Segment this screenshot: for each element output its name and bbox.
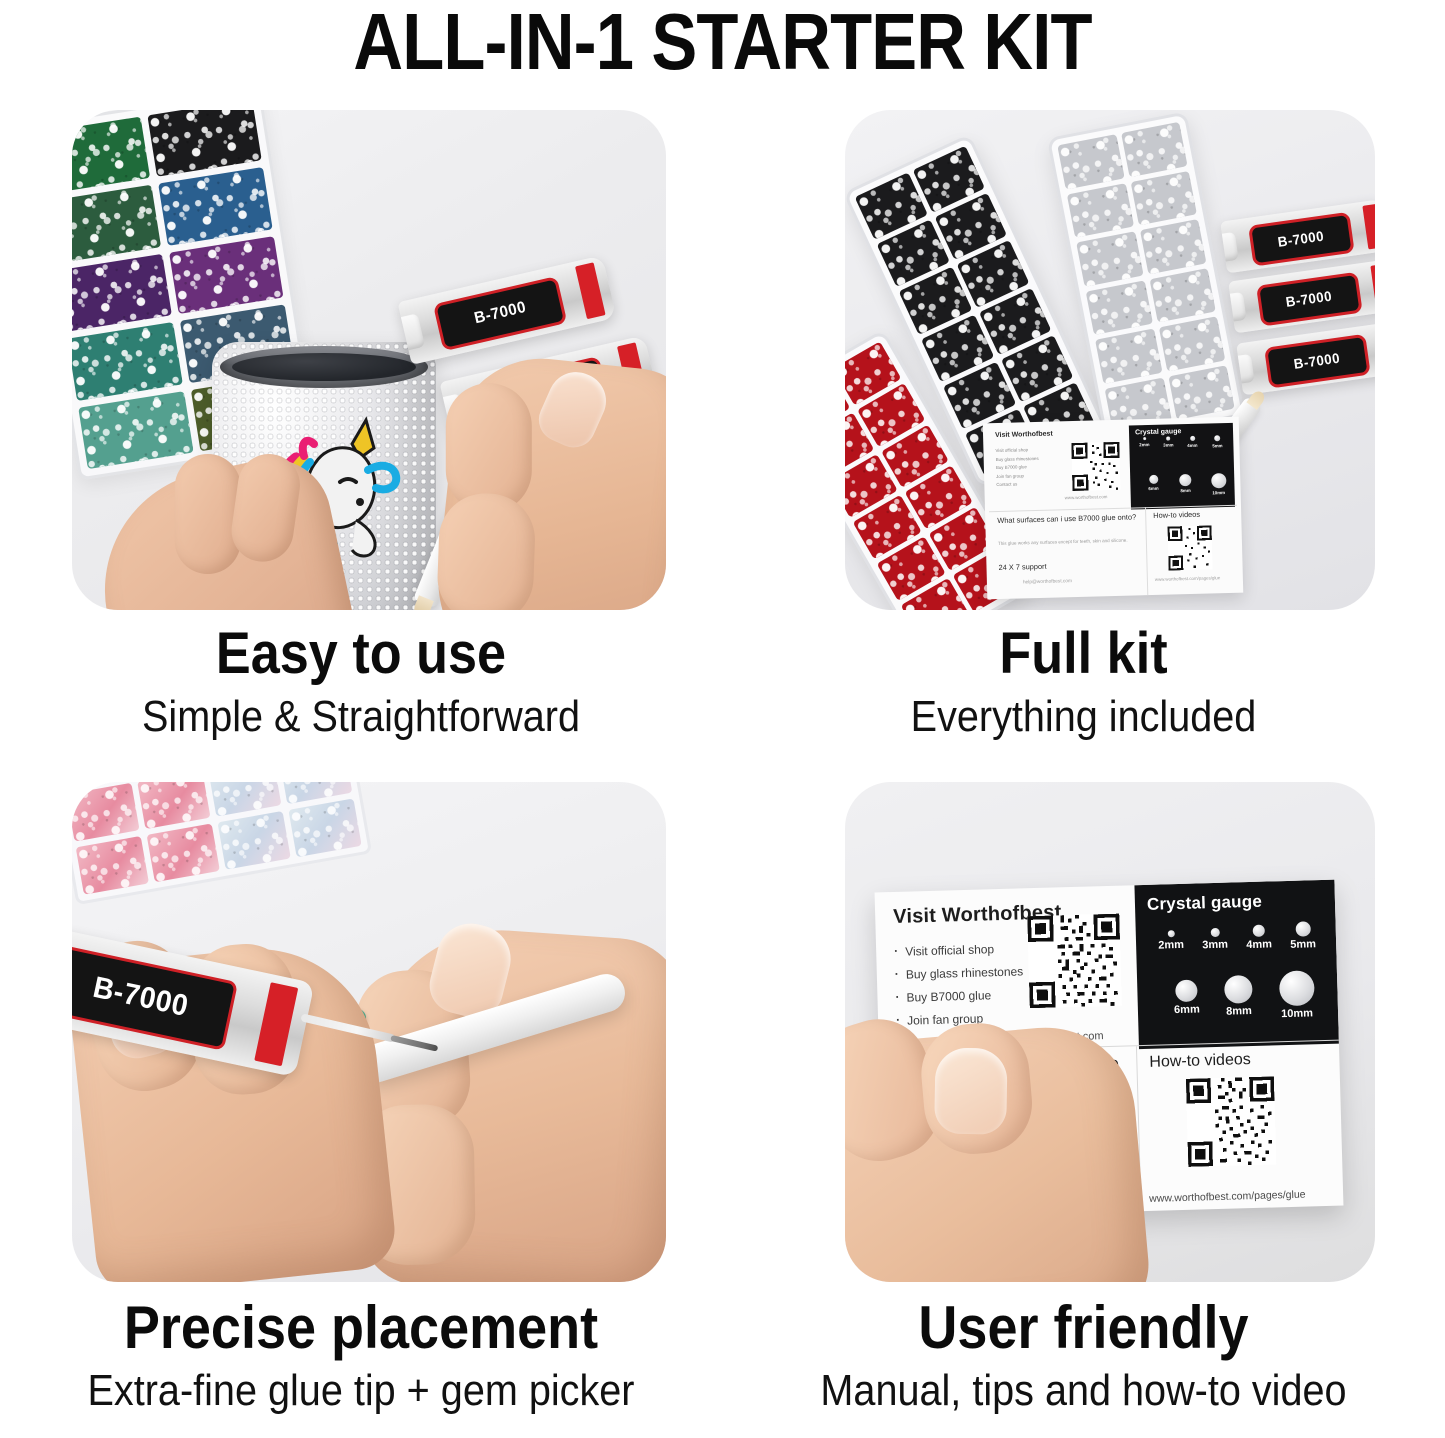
gauge-size-label: 10mm [1272,1007,1322,1020]
finger [175,454,241,574]
glue-tube-label: B-7000 [1248,212,1355,266]
gem-compartment [1086,280,1153,335]
gauge-size-label: 5mm [1282,938,1324,951]
panel-precise-placement: B-7000 [72,782,666,1282]
hand-holding-card [845,1020,1153,1282]
gem-compartment [1158,316,1225,371]
qr-code-icon [1186,1076,1276,1166]
gauge-size-label: 5mm [1205,443,1229,449]
gem-compartment [1139,219,1206,274]
glue-tube: B-7000 [1236,321,1375,396]
glue-tube-nozzle [1236,354,1255,386]
gem-compartment [169,236,284,314]
card-visit-title: Visit Worthofbest [995,431,1053,440]
gauge-size-label: 2mm [1150,939,1192,952]
card-question: What surfaces can i use B7000 glue onto? [997,513,1147,526]
tumbler-rim [220,346,428,388]
glue-brand-text: B-7000 [1285,288,1333,310]
photo-full-kit: B-7000 B-7000 B-7000 [845,110,1375,610]
gem-compartment [1168,365,1235,420]
gem-compartment [72,185,161,263]
gauge-dot [1175,980,1198,1003]
crystal-gauge-mini: Crystal gauge 2mm 3mm 4mm [1129,423,1235,510]
thumbnail [532,363,615,454]
qr-code-icon [1027,914,1122,1009]
gem-compartment [147,823,220,882]
gem-compartment [1130,170,1197,225]
gem-compartment [72,254,171,332]
panel-full-kit: B-7000 B-7000 B-7000 [845,110,1375,610]
card-email: help@worthofbest.com [1023,579,1072,585]
card-visit-section: Visit Worthofbest Visit official shop Bu… [875,885,1137,1052]
gem-compartment [76,836,149,895]
gauge-size-label: 3mm [1194,938,1236,951]
gem-compartment [78,391,193,469]
card-support: 24 X 7 support [998,562,1046,572]
gem-compartment [1057,134,1124,189]
gauge-title: Crystal gauge [1135,428,1181,436]
gauge-size-label: 3mm [1157,442,1179,448]
gem-compartment [208,782,281,817]
glue-brand-text: B-7000 [90,971,191,1024]
crystal-gauge: Crystal gauge 2mm 3mm [1134,880,1339,1050]
gem-compartment [158,167,273,245]
photo-user-friendly: Visit Worthofbest Visit official shop Bu… [845,782,1375,1282]
gem-compartment [288,798,361,857]
card-howto-title: How-to videos [1149,1049,1339,1072]
gem-compartment [1067,183,1134,238]
gem-compartment [72,322,182,400]
thumbnail [934,1047,1007,1134]
card-link-list: Visit official shop Buy glass rhinestone… [995,446,1039,490]
upper-hand [356,922,666,1282]
gem-compartment [137,782,210,829]
instruction-card-mini: Visit Worthofbest Visit official shop Bu… [983,417,1244,600]
caption-user-friendly: User friendly Manual, tips and how-to vi… [722,1296,1445,1415]
glue-tube-red-stripe [575,263,605,320]
finger [436,492,536,610]
caption-subheading: Everything included [758,693,1409,741]
caption-heading: Full kit [758,624,1409,685]
glue-tube-label: B-7000 [433,276,568,352]
panel-user-friendly: Visit Worthofbest Visit official shop Bu… [845,782,1375,1282]
gem-compartment [1076,231,1143,286]
gauge-dot [1224,975,1253,1004]
photo-easy-to-use: B-7000 B-7000 [72,110,666,610]
gem-compartment [1121,122,1188,177]
gauge-size-label: 6mm [1140,486,1166,492]
glue-brand-text: B-7000 [1277,228,1325,250]
caption-subheading: Manual, tips and how-to video [758,1367,1409,1415]
glue-tube-nozzle [1220,232,1239,264]
glue-tube: B-7000 [1220,199,1375,274]
caption-easy-to-use: Easy to use Simple & Straightforward [0,624,722,741]
photo-precise-placement: B-7000 [72,782,666,1282]
card-top-section: Visit Worthofbest Visit official shop Bu… [875,880,1339,1053]
gem-compartment [1149,268,1216,323]
card-howto-url: www.worthofbest.com/pages/glue [1149,1189,1306,1205]
glue-brand-text: B-7000 [1293,350,1341,372]
glue-tube-nozzle [1228,292,1247,324]
glue-tube-body: B-7000 [1220,199,1375,274]
caption-full-kit: Full kit Everything included [722,624,1445,741]
gem-compartment [147,110,262,177]
qr-code-icon [1168,525,1213,570]
glue-tube-label: B-7000 [1264,334,1371,388]
finger [228,450,304,566]
card-link: Contact us [996,480,1039,490]
gauge-dot [1278,970,1314,1006]
gauge-title: Crystal gauge [1147,890,1323,915]
gauge-dot [1167,930,1174,937]
gauge-size-label: 6mm [1164,1003,1210,1016]
caption-heading: Easy to use [36,624,686,685]
gauge-size-label: 10mm [1205,490,1233,496]
gem-compartment [72,117,150,195]
gauge-dot [1295,921,1310,936]
qr-code-icon [1071,442,1120,491]
gauge-size-label: 4mm [1181,443,1203,449]
card-answer: This glue works any surfaces except for … [998,537,1140,547]
caption-heading: User friendly [758,1296,1409,1359]
glue-tube-body: B-7000 [1236,321,1375,396]
gauge-dot [1210,928,1219,937]
caption-subheading: Extra-fine glue tip + gem picker [36,1367,686,1415]
rhinestone-tray-pink [72,782,372,905]
card-howto-url: www.worthofbest.com/pages/glue [1155,575,1221,582]
glue-tube-red-stripe [1362,204,1375,249]
gauge-size-label: 8mm [1216,1005,1262,1018]
caption-heading: Precise placement [36,1296,686,1359]
gauge-dot [1253,925,1265,937]
gauge-size-label: 4mm [1238,938,1280,951]
glue-tube-red-stripe [254,982,298,1067]
glue-tube-label: B-7000 [1256,272,1363,326]
caption-precise-placement: Precise placement Extra-fine glue tip + … [0,1296,722,1415]
card-site-url: www.worthofbest.com [1065,494,1108,500]
card-howto-title: How-to videos [1153,510,1200,520]
gauge-size-label: 2mm [1133,442,1155,448]
card-howto-section: How-to videos [1137,1041,1344,1213]
gem-compartment [217,811,290,870]
gem-compartment [72,783,140,842]
page-title: ALL-IN-1 STARTER KIT [101,0,1344,88]
glue-brand-text: B-7000 [473,299,528,328]
gauge-size-label: 8mm [1173,488,1199,494]
panel-easy-to-use: B-7000 B-7000 [72,110,666,610]
glue-tube-red-stripe [1370,264,1375,309]
infographic-page: ALL-IN-1 STARTER KIT [0,0,1445,1438]
gem-compartment [1095,329,1162,384]
caption-subheading: Simple & Straightforward [36,693,686,741]
